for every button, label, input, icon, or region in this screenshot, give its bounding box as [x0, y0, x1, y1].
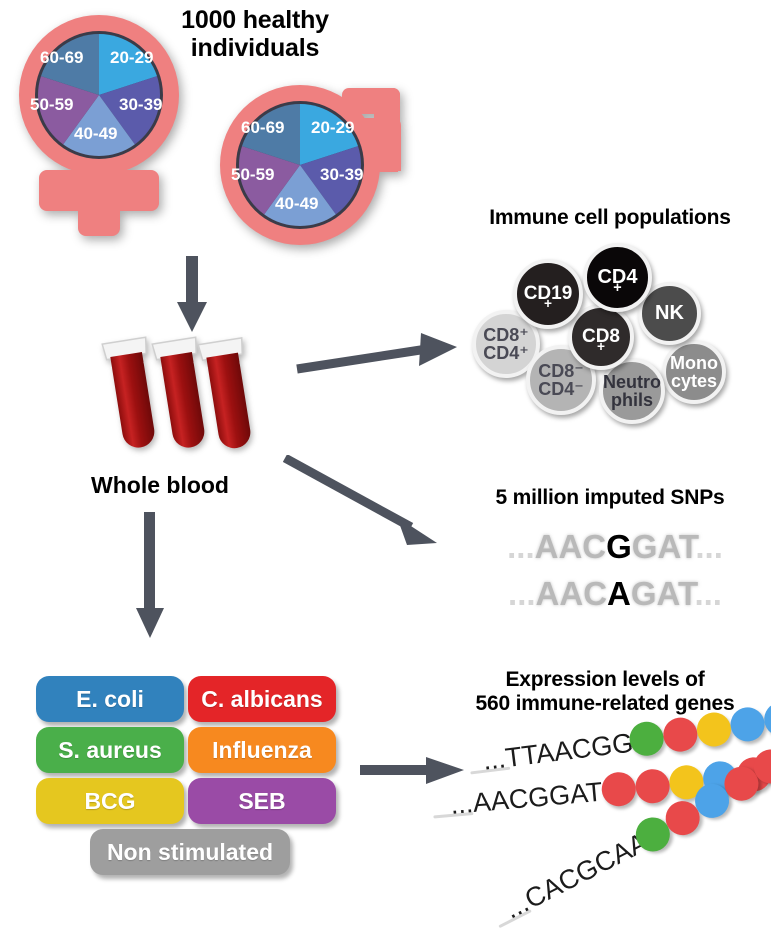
arrow-stim-to-expression: [360, 752, 470, 792]
arrow-down-icon: [172, 256, 212, 334]
arrow-blood-to-immune: [295, 325, 465, 385]
expression-bead: [661, 716, 699, 754]
stim-box-c-albicans[interactable]: C. albicans: [188, 676, 336, 722]
stimulation-conditions: E. coli C. albicans S. aureus Influenza …: [36, 676, 336, 892]
strand-sequence: ...TTAACGG: [481, 728, 635, 777]
snp-suffix: GAT: [632, 528, 696, 565]
pie-label-30-39: 30-39: [320, 165, 363, 185]
immune-cell-label: Neutro phils: [603, 373, 661, 410]
immune-cell-label: CD8⁻ CD4⁻: [538, 362, 584, 399]
pie-label-50-59: 50-59: [231, 165, 274, 185]
test-tube-icon: [95, 328, 265, 466]
snp-prefix: AAC: [536, 575, 608, 612]
immune-cell-label: CD8⁺ CD4⁺: [483, 326, 529, 363]
snps-title: 5 million imputed SNPs: [460, 486, 760, 510]
gene-expression-strands: ...TTAACGG ...AACGGAT ...CACGCAA: [455, 736, 765, 916]
snp-suffix: GAT: [631, 575, 695, 612]
arrow-up-right-icon: [295, 325, 465, 385]
pie-label-20-29: 20-29: [311, 118, 354, 138]
snp-prefix: AAC: [535, 528, 607, 565]
expression-title-line1: Expression levels of: [440, 668, 770, 692]
stim-label: Influenza: [212, 737, 312, 764]
pie-label-50-59: 50-59: [30, 95, 73, 115]
pie-label-60-69: 60-69: [40, 48, 83, 68]
snp-row: ...AACGGAT...: [470, 528, 760, 566]
immune-cell-label: CD8+: [582, 327, 620, 346]
pie-label-20-29: 20-29: [110, 48, 153, 68]
pie-label-60-69: 60-69: [241, 118, 284, 138]
stim-box-seb[interactable]: SEB: [188, 778, 336, 824]
stim-label: E. coli: [76, 686, 144, 713]
snp-row: ...AACAGAT...: [470, 575, 760, 613]
blood-tubes: [95, 328, 265, 466]
snp-flank-left: ...: [507, 528, 535, 565]
expression-bead: [695, 711, 733, 749]
snp-flank-right: ...: [694, 575, 722, 612]
immune-cell-label: CD4+: [597, 267, 637, 287]
strand-sequence: ...AACGGAT: [449, 777, 604, 821]
immune-populations-title: Immune cell populations: [450, 206, 770, 230]
stim-label: Non stimulated: [107, 839, 273, 866]
mars-icon: [198, 22, 418, 254]
arrow-down-icon: [130, 512, 170, 640]
arrow-blood-to-snps: [283, 455, 453, 550]
snp-variant-allele: A: [607, 575, 631, 612]
immune-cell-monocytes: Mono cytes: [662, 340, 726, 404]
strand-sequence: ...CACGCAA: [500, 827, 653, 925]
male-symbol: 20-29 30-39 40-49 50-59 60-69: [198, 22, 418, 254]
stim-box-e-coli[interactable]: E. coli: [36, 676, 184, 722]
stim-box-bcg[interactable]: BCG: [36, 778, 184, 824]
snp-sequences: ...AACGGAT... ...AACAGAT...: [470, 528, 760, 614]
stim-box-influenza[interactable]: Influenza: [188, 727, 336, 773]
expression-bead: [634, 768, 671, 805]
stim-label: BCG: [84, 788, 135, 815]
immune-cell-label: Mono cytes: [670, 354, 718, 391]
expression-title-line2: 560 immune-related genes: [440, 692, 770, 716]
immune-cell-label: NK: [655, 303, 684, 323]
expression-bead: [600, 771, 637, 808]
pie-label-30-39: 30-39: [119, 95, 162, 115]
stim-label: C. albicans: [201, 686, 322, 713]
stim-box-non-stimulated[interactable]: Non stimulated: [90, 829, 290, 875]
arrow-blood-to-stim: [130, 512, 170, 640]
immune-cell-cd4pos: CD4+: [583, 243, 652, 312]
snp-flank-left: ...: [508, 575, 536, 612]
expression-title: Expression levels of 560 immune-related …: [440, 668, 770, 715]
stim-box-s-aureus[interactable]: S. aureus: [36, 727, 184, 773]
arrow-right-icon: [360, 752, 470, 792]
arrow-cohort-to-blood: [172, 256, 212, 334]
pie-label-40-49: 40-49: [275, 194, 318, 214]
snp-flank-right: ...: [695, 528, 723, 565]
immune-cell-cluster: CD8⁺ CD4⁺ CD8⁻ CD4⁻ Mono cytes Neutro ph…: [455, 240, 765, 420]
stim-label: SEB: [238, 788, 285, 815]
pie-label-40-49: 40-49: [74, 124, 117, 144]
arrow-down-right-icon: [283, 455, 453, 550]
stim-label: S. aureus: [58, 737, 162, 764]
immune-cell-label: CD19+: [524, 284, 573, 303]
immune-cell-cd19pos: CD19+: [513, 259, 583, 329]
snp-variant-allele: G: [606, 528, 632, 565]
whole-blood-label: Whole blood: [60, 472, 260, 499]
immune-cell-cd8pos: CD8+: [568, 304, 634, 370]
